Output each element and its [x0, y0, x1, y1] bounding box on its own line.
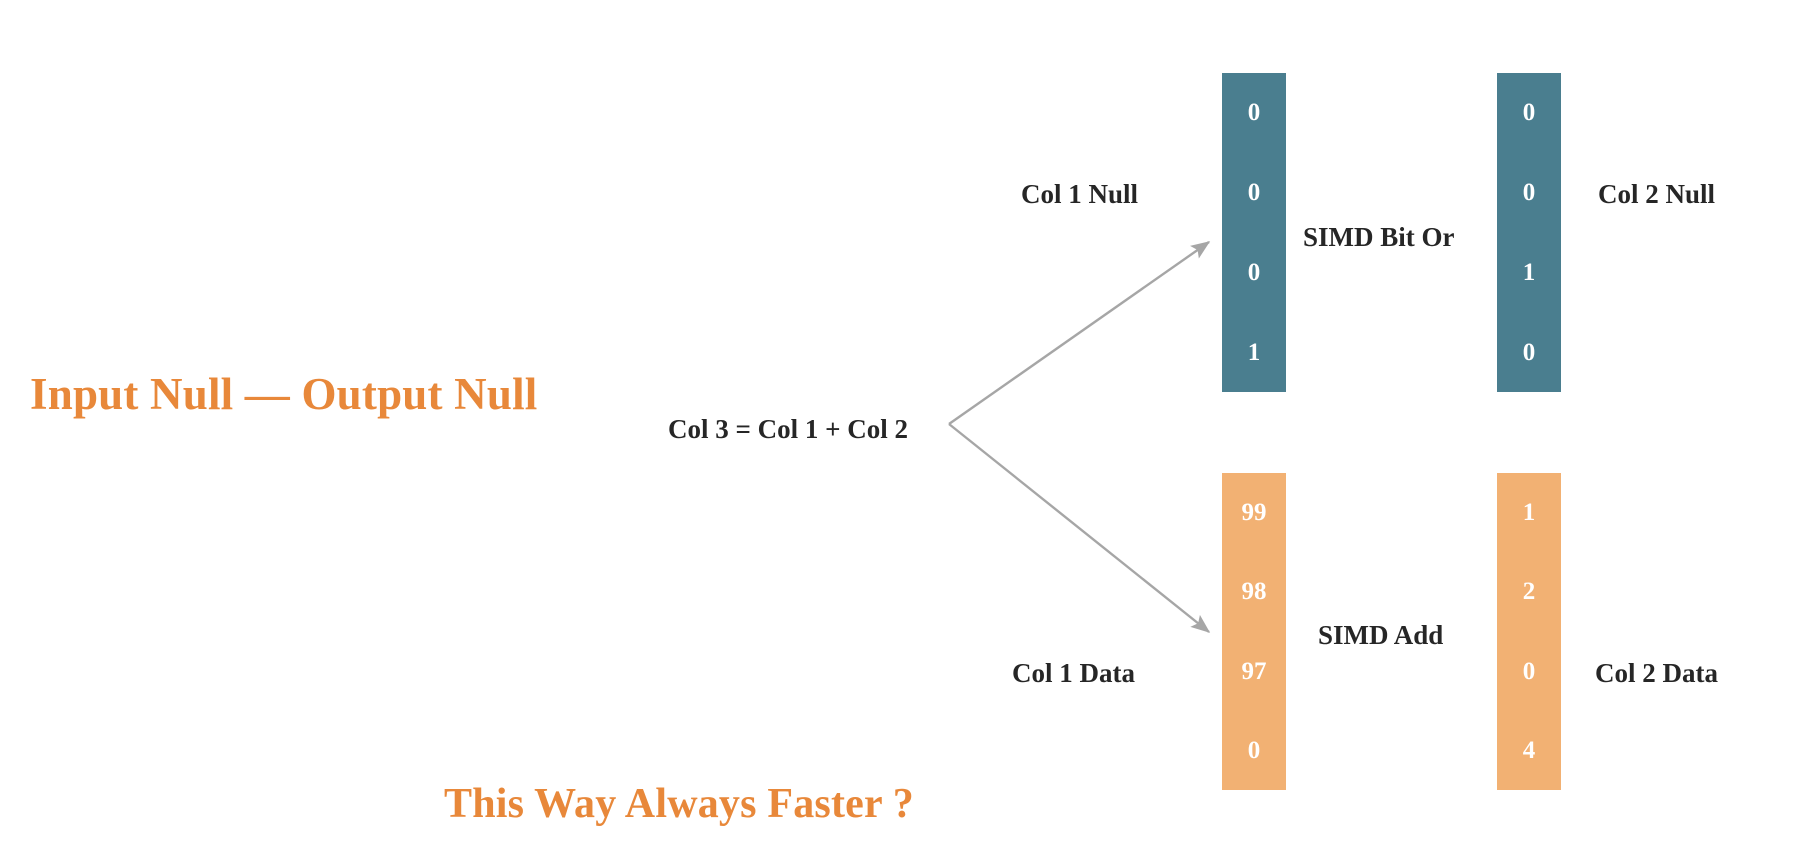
formula-label: Col 3 = Col 1 + Col 2: [668, 416, 908, 443]
column-cell: 0: [1222, 233, 1286, 313]
simd-add-label: SIMD Add: [1318, 622, 1443, 649]
column-col-2-data: 1204: [1497, 473, 1561, 790]
column-cell: 1: [1497, 233, 1561, 313]
col-1-data-label: Col 1 Data: [1012, 660, 1135, 687]
arrow-to-null-lane: [949, 242, 1209, 424]
column-col-1-data: 9998970: [1222, 473, 1286, 790]
column-cell: 0: [1497, 153, 1561, 233]
col-2-data-label: Col 2 Data: [1595, 660, 1718, 687]
column-cell: 1: [1497, 473, 1561, 552]
arrow-to-data-lane: [949, 424, 1209, 632]
column-cell: 2: [1497, 552, 1561, 631]
column-cell: 0: [1497, 312, 1561, 392]
column-cell: 0: [1497, 632, 1561, 711]
col-1-null-label: Col 1 Null: [1021, 181, 1138, 208]
column-cell: 4: [1497, 711, 1561, 790]
column-cell: 0: [1222, 153, 1286, 233]
page-title: Input Null — Output Null: [30, 372, 538, 417]
column-cell: 0: [1222, 711, 1286, 790]
column-cell: 0: [1222, 73, 1286, 153]
column-cell: 99: [1222, 473, 1286, 552]
slide-canvas: Input Null — Output Null This Way Always…: [0, 0, 1794, 858]
column-col-2-null: 0010: [1497, 73, 1561, 392]
column-cell: 0: [1497, 73, 1561, 153]
simd-bit-or-label: SIMD Bit Or: [1303, 224, 1455, 251]
col-2-null-label: Col 2 Null: [1598, 181, 1715, 208]
column-cell: 98: [1222, 552, 1286, 631]
footer-question: This Way Always Faster ?: [444, 783, 914, 825]
column-cell: 1: [1222, 312, 1286, 392]
column-cell: 97: [1222, 632, 1286, 711]
column-col-1-null: 0001: [1222, 73, 1286, 392]
